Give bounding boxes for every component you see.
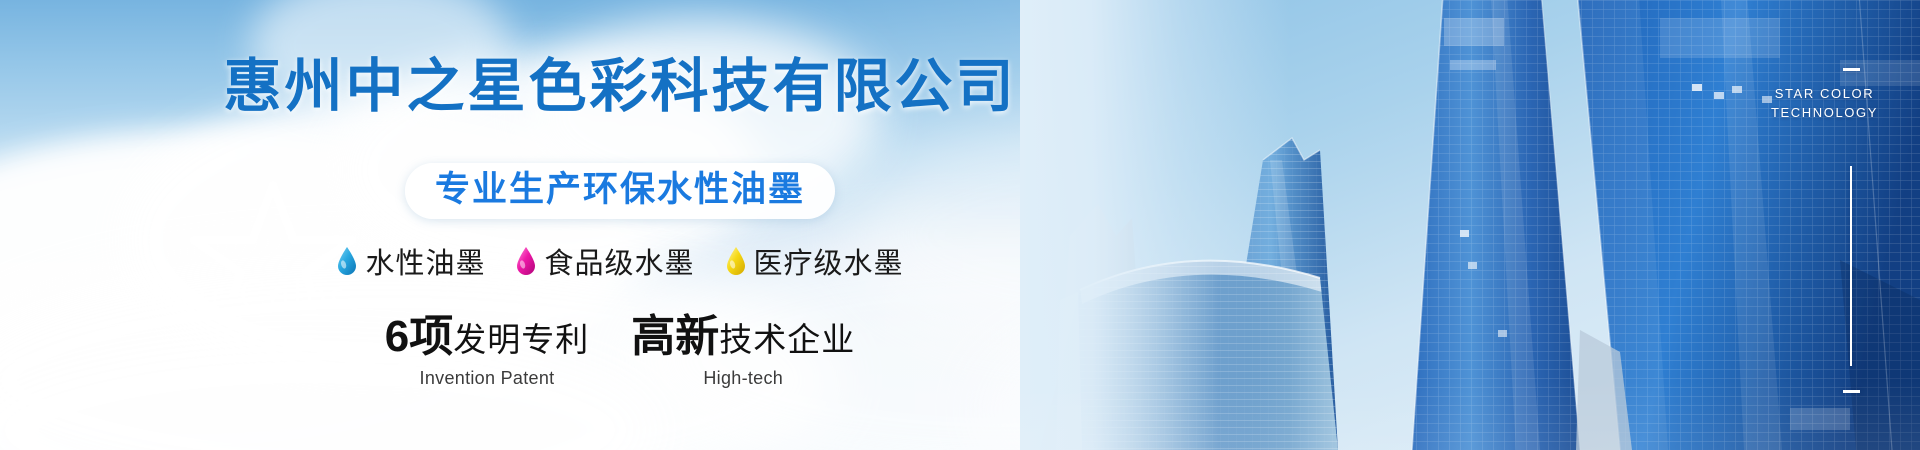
badge-list: 6项发明专利 Invention Patent 高新技术企业 High-tech	[0, 315, 1240, 389]
water-drop-icon	[336, 246, 358, 276]
badge-strong-text: 6项	[385, 312, 453, 361]
badge-item: 6项发明专利 Invention Patent	[385, 315, 589, 389]
feature-list: 水性油墨 食品级水墨	[0, 240, 1240, 282]
corner-mark-line1: STAR COLOR	[1771, 84, 1878, 103]
feature-item: 水性油墨	[336, 240, 485, 282]
feature-label: 医疗级水墨	[754, 240, 904, 282]
badge-item: 高新技术企业 High-tech	[631, 315, 855, 389]
feature-item: 食品级水墨	[515, 240, 694, 282]
accent-tick-bottom	[1843, 390, 1860, 393]
badge-strong-text: 高新	[631, 312, 719, 361]
tagline-text: 专业生产环保水性油墨	[435, 170, 805, 210]
feature-label: 食品级水墨	[544, 240, 694, 282]
badge-english: High-tech	[631, 368, 855, 389]
feature-label: 水性油墨	[365, 240, 485, 282]
feature-item: 医疗级水墨	[725, 240, 904, 282]
company-title: 惠州中之星色彩科技有限公司	[0, 58, 1240, 116]
accent-vertical-line	[1850, 166, 1852, 366]
tagline-pill: 专业生产环保水性油墨	[405, 163, 835, 219]
promo-banner: Star Color	[0, 0, 1920, 450]
water-drop-icon	[725, 246, 747, 276]
corner-mark: STAR COLOR TECHNOLOGY	[1771, 84, 1878, 122]
banner-content: 惠州中之星色彩科技有限公司 专业生产环保水性油墨 水性油	[0, 0, 1240, 450]
badge-rest-text: 发明专利	[453, 321, 589, 358]
badge-chinese: 6项发明专利	[385, 315, 589, 359]
water-drop-icon	[515, 246, 537, 276]
corner-mark-line2: TECHNOLOGY	[1771, 103, 1878, 122]
badge-rest-text: 技术企业	[719, 321, 855, 358]
badge-chinese: 高新技术企业	[631, 315, 855, 359]
badge-english: Invention Patent	[385, 368, 589, 389]
accent-tick-top	[1843, 68, 1860, 71]
